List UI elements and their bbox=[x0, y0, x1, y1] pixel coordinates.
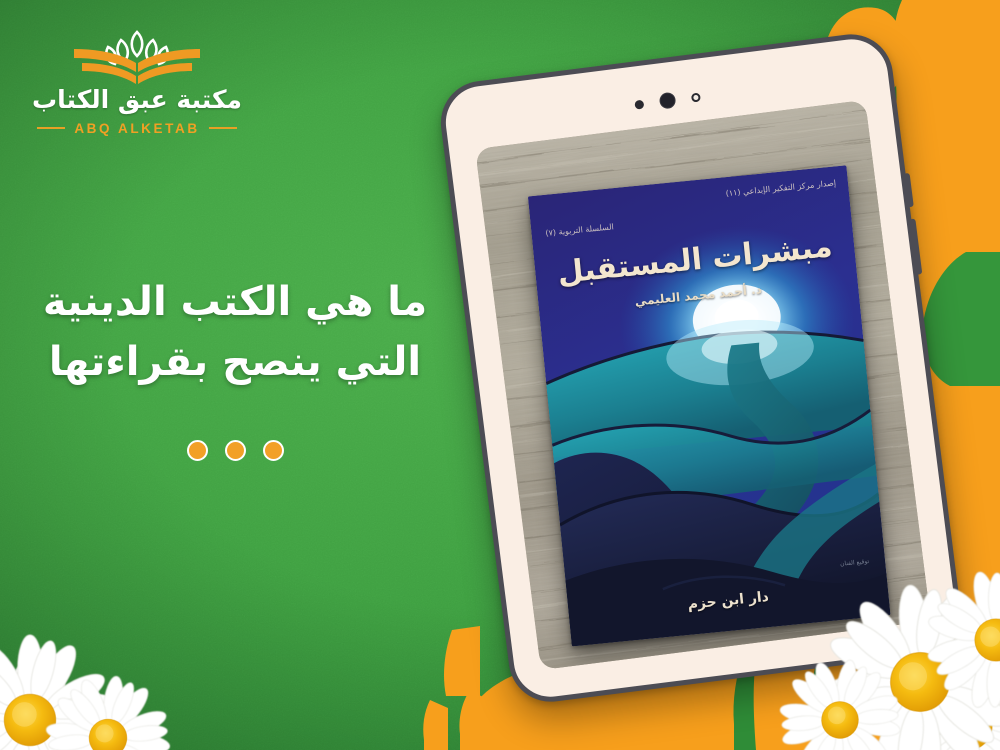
camera-sensor-row bbox=[633, 89, 700, 113]
open-book-leaf-icon bbox=[22, 22, 252, 84]
tablet-screen[interactable]: إصدار مركز التفكير الإبداعي (١١) السلسلة… bbox=[475, 100, 931, 670]
sensor-small-dot-icon bbox=[634, 99, 644, 109]
ellipsis-dots bbox=[0, 440, 470, 461]
logo-name-english-row: ABQ ALKETAB bbox=[22, 121, 252, 136]
headline-line-1: ما هي الكتب الدينية bbox=[0, 272, 470, 332]
promo-graphic-canvas: مكتبة عبق الكتاب ABQ ALKETAB ما هي الكتب… bbox=[0, 0, 1000, 750]
dot-1 bbox=[187, 440, 208, 461]
tablet-device[interactable]: إصدار مركز التفكير الإبداعي (١١) السلسلة… bbox=[416, 6, 995, 723]
headline: ما هي الكتب الدينية التي ينصح بقراءتها bbox=[0, 272, 470, 392]
logo-dash-right bbox=[209, 127, 237, 129]
logo-name-english: ABQ ALKETAB bbox=[74, 121, 199, 136]
volume-button[interactable] bbox=[904, 173, 914, 207]
logo-dash-left bbox=[37, 127, 65, 129]
brand-logo[interactable]: مكتبة عبق الكتاب ABQ ALKETAB bbox=[22, 22, 252, 136]
tablet-bezel: إصدار مركز التفكير الإبداعي (١١) السلسلة… bbox=[436, 29, 966, 706]
headline-line-2: التي ينصح بقراءتها bbox=[0, 332, 470, 392]
dot-2 bbox=[225, 440, 246, 461]
light-sensor-ring-icon bbox=[690, 92, 700, 102]
dot-3 bbox=[263, 440, 284, 461]
power-button[interactable] bbox=[909, 218, 922, 274]
logo-name-arabic: مكتبة عبق الكتاب bbox=[22, 86, 252, 115]
book-cover[interactable]: إصدار مركز التفكير الإبداعي (١١) السلسلة… bbox=[528, 165, 891, 646]
front-camera-dot-icon bbox=[658, 92, 676, 110]
